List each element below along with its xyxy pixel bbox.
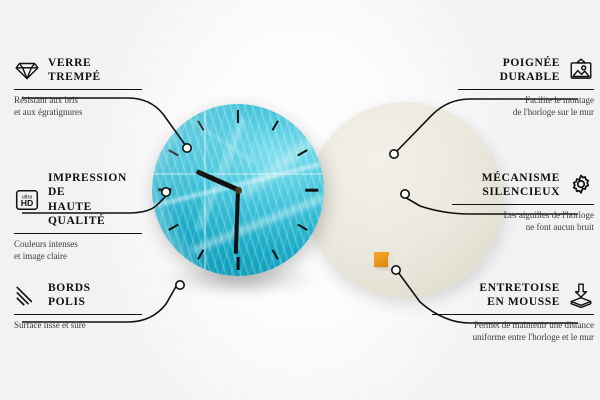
callout-title-line2: POLIS	[48, 295, 91, 309]
callout-title-line2: DURABLE	[500, 70, 560, 84]
callout-title-line2: HAUTE QUALITÉ	[48, 200, 142, 229]
callout-title-line1: MÉCANISME	[482, 171, 560, 185]
callout-desc-line2: et aux égratignures	[14, 106, 142, 118]
ultra-hd-icon: ultra HD	[14, 187, 40, 213]
polished-edges-icon	[14, 282, 40, 308]
callout-desc-line1: Les aiguilles de l'horloge	[452, 209, 594, 221]
callout-desc-line1: Couleurs intenses	[14, 238, 142, 250]
clock-tick	[237, 257, 240, 270]
feature-callout-verre-trempe: VERRE TREMPÉ Résistant aux bris et aux é…	[14, 56, 142, 119]
callout-rule	[452, 204, 594, 206]
clock-tick	[297, 224, 308, 231]
feature-callout-poignee-durable: POIGNÉE DURABLE Facilite le montage de l…	[458, 56, 594, 119]
clock-tick	[237, 110, 240, 123]
callout-desc-line2: uniforme entre l'horloge et le mur	[432, 331, 594, 343]
callout-header: MÉCANISME SILENCIEUX	[452, 171, 594, 200]
face-texture	[152, 173, 324, 175]
clock-minute-hand	[234, 190, 240, 254]
callout-header: ultra HD IMPRESSION DE HAUTE QUALITÉ	[14, 171, 142, 229]
callout-title-line1: VERRE	[48, 56, 101, 70]
callout-desc-line2: ne font aucun bruit	[452, 221, 594, 233]
feature-callout-impression: ultra HD IMPRESSION DE HAUTE QUALITÉ Cou…	[14, 171, 142, 262]
svg-text:HD: HD	[21, 198, 34, 208]
clock-tick	[168, 149, 179, 156]
feature-callout-mecanisme-silencieux: MÉCANISME SILENCIEUX Les aiguilles de l'…	[452, 171, 594, 234]
callout-header: BORDS POLIS	[14, 281, 142, 310]
clock-front-face	[152, 104, 324, 276]
callout-title-line1: IMPRESSION DE	[48, 171, 142, 200]
foam-spacer-pad	[374, 252, 389, 267]
diamond-icon	[14, 57, 40, 83]
callout-title-line2: SILENCIEUX	[482, 185, 560, 199]
callout-desc-line1: Surface lisse et sûre	[14, 319, 142, 331]
callout-title-line2: TREMPÉ	[48, 70, 101, 84]
clock-tick	[168, 224, 179, 231]
hanging-frame-icon	[568, 57, 594, 83]
callout-desc-line2: et image claire	[14, 250, 142, 262]
clock-tick	[305, 189, 318, 192]
callout-desc-line2: de l'horloge sur le mur	[458, 106, 594, 118]
callout-rule	[14, 314, 142, 316]
clock-center-cap	[235, 187, 242, 194]
feature-callout-entretoise-mousse: ENTRETOISE EN MOUSSE Permet de maintenir…	[432, 281, 594, 344]
foam-spacer-icon	[568, 282, 594, 308]
callout-rule	[14, 233, 142, 235]
clock-tick	[272, 120, 279, 131]
callout-title-line1: POIGNÉE	[500, 56, 560, 70]
gear-icon	[568, 172, 594, 198]
callout-title-line1: BORDS	[48, 281, 91, 295]
callout-header: ENTRETOISE EN MOUSSE	[432, 281, 594, 310]
callout-rule	[14, 89, 142, 91]
feature-callout-bords-polis: BORDS POLIS Surface lisse et sûre	[14, 281, 142, 331]
callout-title-line2: EN MOUSSE	[479, 295, 560, 309]
clock-tick	[272, 249, 279, 260]
infographic-stage: VERRE TREMPÉ Résistant aux bris et aux é…	[0, 0, 600, 400]
callout-desc-line1: Facilite le montage	[458, 94, 594, 106]
callout-rule	[432, 314, 594, 316]
clock-tick	[158, 189, 171, 192]
callout-rule	[458, 89, 594, 91]
callout-desc-line1: Résistant aux bris	[14, 94, 142, 106]
callout-header: VERRE TREMPÉ	[14, 56, 142, 85]
callout-desc-line1: Permet de maintenir une distance	[432, 319, 594, 331]
callout-title-line1: ENTRETOISE	[479, 281, 560, 295]
callout-header: POIGNÉE DURABLE	[458, 56, 594, 85]
